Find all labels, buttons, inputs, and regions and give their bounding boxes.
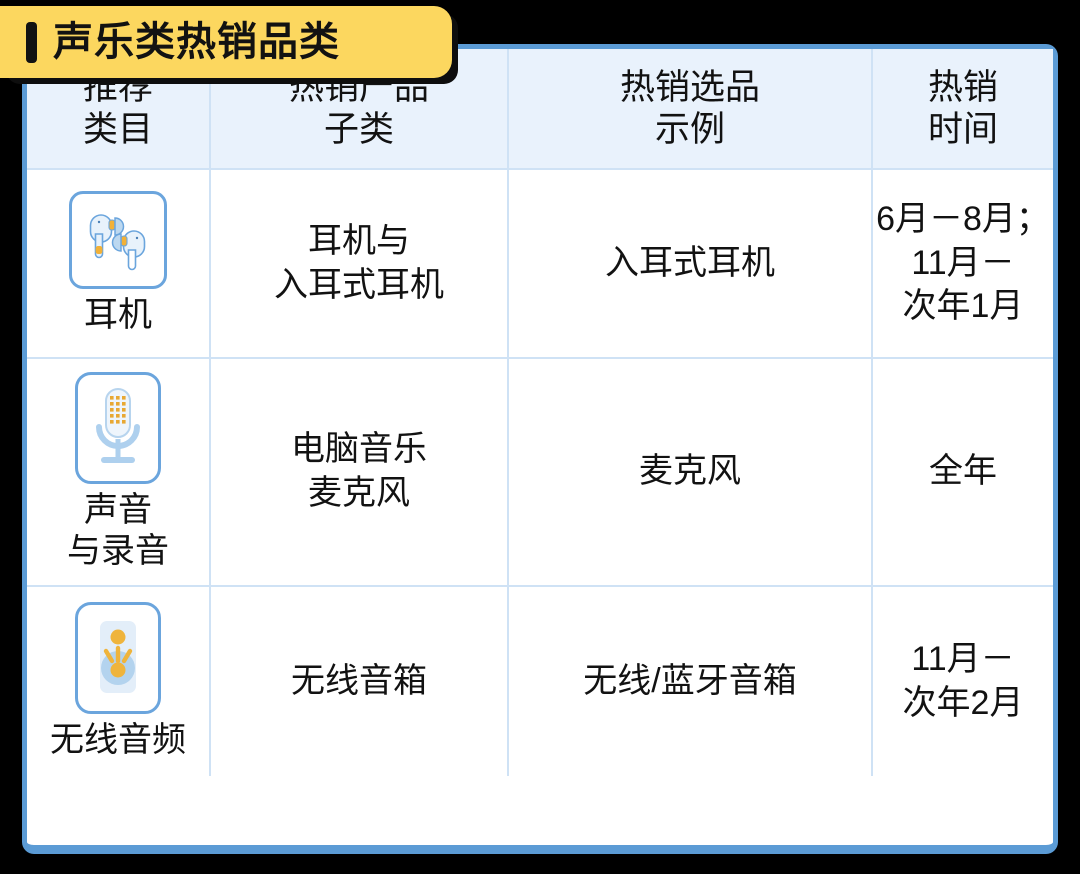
table-row: 声音 与录音 电脑音乐 麦克风 麦克风 全年 — [27, 358, 1053, 586]
column-header-season: 热销 时间 — [872, 49, 1053, 169]
subcategory-cell: 电脑音乐 麦克风 — [210, 358, 508, 586]
table-row: 耳机 耳机与 入耳式耳机 入耳式耳机 6月－8月； 11月－ 次年1月 — [27, 169, 1053, 358]
page-root: 推荐 类目 热销产品 子类 热销选品 示例 热销 时间 — [0, 0, 1080, 874]
example-cell: 入耳式耳机 — [508, 169, 872, 358]
category-label: 耳机 — [84, 295, 152, 336]
category-cell-wireless-audio: 无线音频 — [27, 586, 210, 776]
subcategory-cell: 耳机与 入耳式耳机 — [210, 169, 508, 358]
season-cell: 11月－ 次年2月 — [872, 586, 1053, 776]
category-cell-audio-recording: 声音 与录音 — [27, 358, 210, 586]
table-row: 无线音频 无线音箱 无线/蓝牙音箱 11月－ 次年2月 — [27, 586, 1053, 776]
wireless-speaker-icon — [75, 602, 161, 714]
category-cell-earphones: 耳机 — [27, 169, 210, 358]
badge-accent-bar — [26, 22, 37, 63]
season-cell: 6月－8月； 11月－ 次年1月 — [872, 169, 1053, 358]
title-badge: 声乐类热销品类 — [0, 6, 452, 78]
earbuds-icon — [69, 191, 167, 289]
category-label: 声音 与录音 — [67, 490, 169, 573]
page-title: 声乐类热销品类 — [53, 22, 340, 62]
hot-selling-table: 推荐 类目 热销产品 子类 热销选品 示例 热销 时间 — [27, 49, 1053, 776]
category-card: 推荐 类目 热销产品 子类 热销选品 示例 热销 时间 — [22, 44, 1058, 854]
microphone-icon — [75, 372, 161, 484]
example-cell: 无线/蓝牙音箱 — [508, 586, 872, 776]
season-cell: 全年 — [872, 358, 1053, 586]
category-label: 无线音频 — [50, 720, 186, 761]
column-header-example: 热销选品 示例 — [508, 49, 872, 169]
example-cell: 麦克风 — [508, 358, 872, 586]
subcategory-cell: 无线音箱 — [210, 586, 508, 776]
